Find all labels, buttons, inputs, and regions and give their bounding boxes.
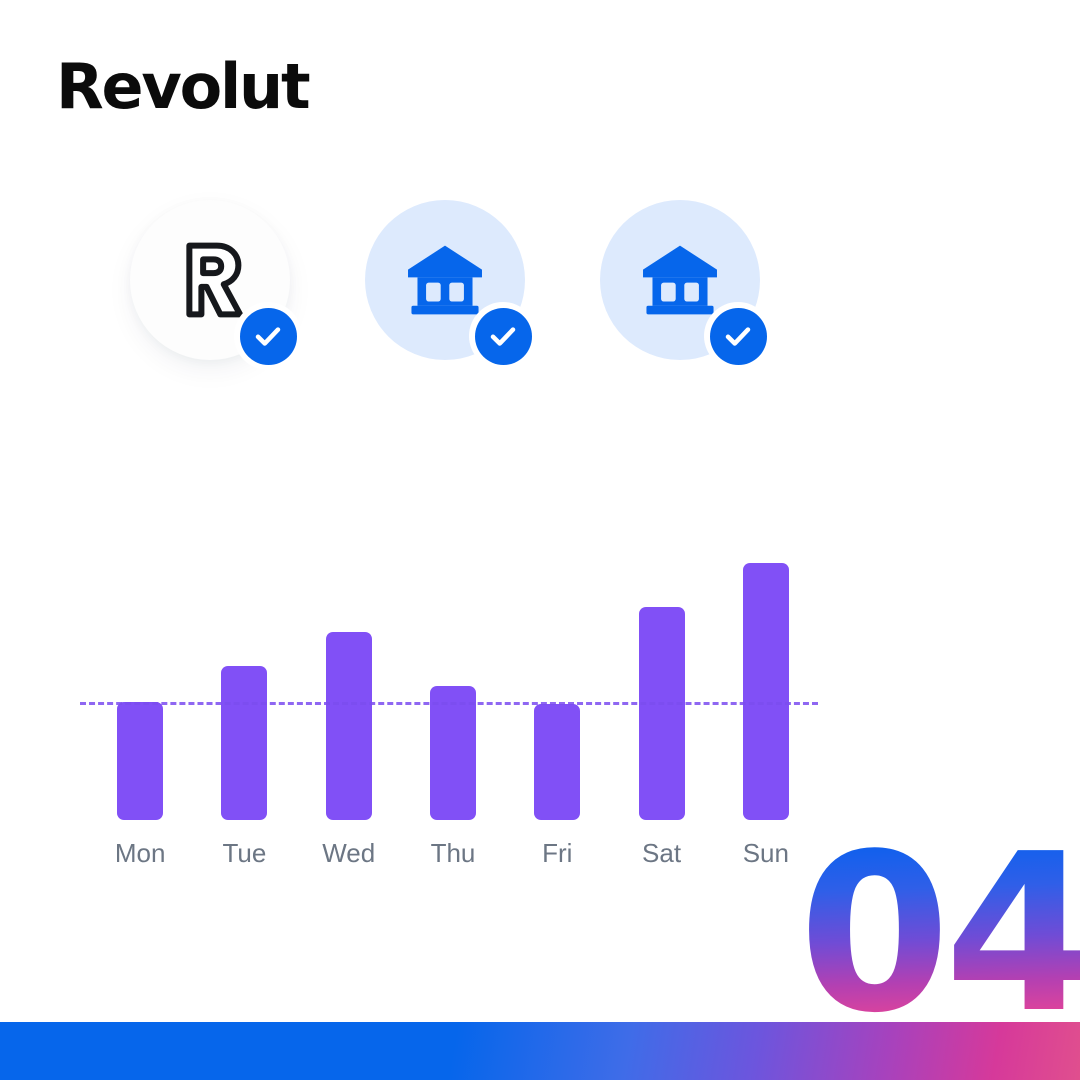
bar-slot-sat[interactable] — [609, 550, 713, 820]
bar-slot-tue[interactable] — [192, 550, 296, 820]
chart-plot-area — [88, 550, 818, 820]
x-label-thu: Thu — [401, 838, 505, 869]
check-circle — [475, 308, 532, 365]
account-badge-bank-1[interactable] — [365, 200, 525, 360]
verified-check-badge — [234, 302, 302, 370]
account-badge-revolut[interactable] — [130, 200, 290, 360]
bar-slot-sun[interactable] — [714, 550, 818, 820]
account-badge-bank-2[interactable] — [600, 200, 760, 360]
brand-wordmark: Revolut — [56, 56, 308, 118]
bar-thu[interactable] — [430, 686, 476, 820]
bar-mon[interactable] — [117, 702, 163, 820]
bar-fri[interactable] — [534, 704, 580, 820]
x-label-wed: Wed — [297, 838, 401, 869]
bar-slot-thu[interactable] — [401, 550, 505, 820]
bar-sat[interactable] — [639, 607, 685, 820]
check-circle — [710, 308, 767, 365]
chart-bars — [88, 550, 818, 820]
bank-icon — [637, 237, 723, 323]
check-icon — [722, 320, 754, 352]
check-icon — [487, 320, 519, 352]
bar-wed[interactable] — [326, 632, 372, 820]
bar-sun[interactable] — [743, 563, 789, 820]
x-label-sat: Sat — [609, 838, 713, 869]
slide-number: 04 — [799, 841, 1080, 1028]
bar-tue[interactable] — [221, 666, 267, 820]
verified-accounts-row — [130, 200, 770, 400]
x-label-fri: Fri — [505, 838, 609, 869]
revolut-r-icon — [167, 237, 253, 323]
bank-icon — [402, 237, 488, 323]
x-label-tue: Tue — [192, 838, 296, 869]
bar-slot-wed[interactable] — [297, 550, 401, 820]
chart-x-axis-labels: MonTueWedThuFriSatSun — [88, 838, 818, 878]
bar-slot-mon[interactable] — [88, 550, 192, 820]
check-icon — [252, 320, 284, 352]
average-dashed-line — [80, 702, 818, 705]
x-label-mon: Mon — [88, 838, 192, 869]
check-circle — [240, 308, 297, 365]
verified-check-badge — [469, 302, 537, 370]
bar-slot-fri[interactable] — [505, 550, 609, 820]
slide-canvas: Revolut — [0, 0, 1080, 1080]
verified-check-badge — [704, 302, 772, 370]
